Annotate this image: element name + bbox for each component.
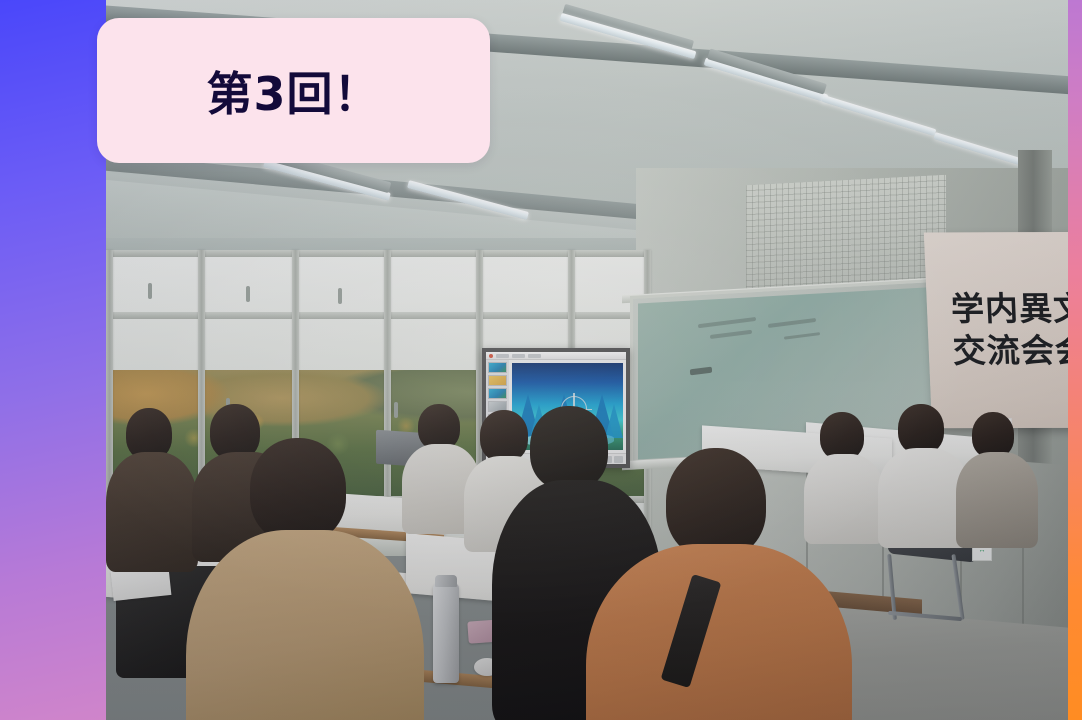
person-head — [666, 448, 766, 558]
chalk-writing — [784, 332, 820, 340]
status-button[interactable] — [614, 456, 623, 463]
person-head — [530, 406, 608, 490]
window-latch-1[interactable] — [148, 283, 152, 299]
chalk-writing — [698, 317, 756, 328]
exit-arrow-icon: ↔ — [979, 547, 986, 554]
chalk-eraser[interactable] — [690, 367, 712, 376]
person-head — [898, 404, 944, 454]
chair-leg-base — [888, 611, 962, 621]
slide-root: 学内異文化 交流会会場 ↔ — [0, 0, 1082, 720]
toolbar-tab[interactable] — [528, 354, 541, 358]
title-text: 第3回！ — [206, 58, 380, 124]
slide-thumbnail[interactable] — [488, 375, 507, 386]
toolbar-tab[interactable] — [512, 354, 525, 358]
person-torso — [106, 452, 198, 572]
chalk-writing — [710, 330, 752, 339]
thermos-bottle[interactable] — [433, 583, 459, 683]
poster-line-1: 学内異文化 — [950, 291, 1068, 327]
title-card: 第3回！ — [97, 18, 490, 163]
toolbar-tab[interactable] — [496, 354, 509, 358]
perforated-ceiling-panel — [746, 175, 946, 293]
record-dot-icon — [489, 354, 493, 358]
window-latch-3[interactable] — [338, 288, 342, 304]
person-torso — [186, 530, 424, 720]
person-head — [250, 438, 346, 542]
person-torso — [804, 454, 884, 544]
person-head — [820, 412, 864, 460]
thermos-cap — [435, 575, 457, 587]
app-toolbar[interactable] — [486, 352, 626, 360]
window-latch-5[interactable] — [394, 402, 398, 418]
chalk-writing — [768, 318, 816, 328]
mountain-peak — [605, 404, 623, 438]
person-head — [480, 410, 528, 462]
event-venue-poster: 学内異文化 交流会会場 — [924, 232, 1068, 429]
right-accent-strip — [1068, 0, 1082, 720]
person-torso — [956, 452, 1038, 548]
slide-thumbnail[interactable] — [488, 362, 507, 373]
slide-thumbnail[interactable] — [488, 388, 507, 399]
chair-leg-rear — [951, 554, 964, 620]
window-latch-2[interactable] — [246, 286, 250, 302]
poster-line-2: 交流会会場 — [952, 333, 1068, 369]
